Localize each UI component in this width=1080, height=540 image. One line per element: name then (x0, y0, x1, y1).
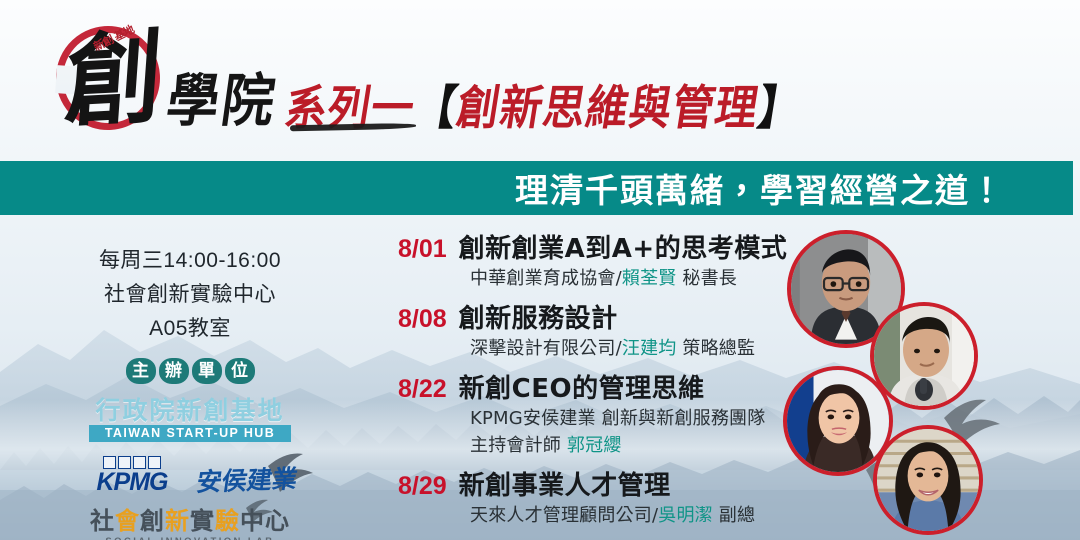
session-heading: 8/01 創新創業A到A+的思考模式 (398, 228, 818, 265)
session-speaker-role: 副總 (713, 505, 755, 526)
session-item: 8/22 新創CEO的管理思維 KPMG安侯建業 創新與新創服務團隊 主持會計師… (398, 368, 818, 459)
headline-banner: 理清千頭萬緒，學習經營之道！ (0, 161, 1073, 215)
organizer-badge: 主 (126, 358, 156, 384)
session-date: 8/29 (398, 472, 447, 501)
event-time: 每周三14:00-16:00 (0, 244, 380, 278)
logo-social-innovation-lab: 社會創新實驗中心 SOCIAL INNOVATION LAB (0, 508, 380, 540)
event-venue: 社會創新實驗中心 (0, 278, 380, 312)
portrait-photo (877, 429, 979, 531)
session-title: 創新創業A到A+的思考模式 (459, 228, 788, 265)
hub-logo-en: TAIWAN START-UP HUB (89, 425, 291, 442)
session-heading: 8/29 新創事業人才管理 (398, 465, 818, 502)
session-speaker-role: 秘書長 (676, 268, 737, 289)
session-speaker-role: 主持會計師 (470, 435, 567, 456)
session-item: 8/08 創新服務設計 深擊設計有限公司/汪建均 策略總監 (398, 298, 818, 362)
kpmg-mark: KPMG (83, 456, 181, 495)
session-title: 創新服務設計 (459, 298, 618, 335)
silab-ch: 實 (190, 506, 215, 535)
silab-ch-hl: 驗 (215, 506, 240, 535)
silab-logo-en: SOCIAL INNOVATION LAB (0, 535, 380, 540)
session-org: 深擊設計有限公司/ (470, 338, 622, 359)
session-item: 8/29 新創事業人才管理 天來人才管理顧問公司/吳明潔 副總 (398, 465, 818, 529)
event-info-column: 每周三14:00-16:00 社會創新實驗中心 A05教室 主 辦 單 位 行政… (0, 244, 380, 540)
session-date: 8/22 (398, 375, 447, 404)
session-speaker-line: 深擊設計有限公司/汪建均 策略總監 (470, 335, 818, 362)
silab-ch: 中心 (240, 506, 290, 535)
session-title: 新創事業人才管理 (459, 465, 671, 502)
session-item: 8/01 創新創業A到A+的思考模式 中華創業育成協會/賴荃賢 秘書長 (398, 228, 818, 292)
session-speaker-name: 賴荃賢 (622, 268, 677, 289)
session-speaker-name: 郭冠纓 (567, 435, 622, 456)
session-org: 中華創業育成協會/ (470, 268, 622, 289)
organizer-badge: 單 (192, 358, 222, 384)
bracket-close: 】 (754, 80, 806, 135)
silab-logo-cn: 社會創新實驗中心 (0, 508, 380, 534)
session-speaker-line: 天來人才管理顧問公司/吳明潔 副總 (470, 502, 818, 529)
session-date: 8/01 (398, 235, 447, 264)
silab-ch: 社 (90, 506, 115, 535)
portrait-photo (787, 370, 889, 472)
event-room: A05教室 (0, 312, 380, 346)
session-speaker-name: 汪建均 (622, 338, 677, 359)
session-org: 天來人才管理顧問公司/ (470, 505, 658, 526)
logo-taiwan-startup-hub: 行政院新創基地 TAIWAN START-UP HUB (89, 398, 291, 442)
session-org-line: KPMG安侯建業 創新與新創服務團隊 (470, 405, 818, 432)
organizer-badge: 位 (225, 358, 255, 384)
kpmg-wordmark: KPMG (83, 470, 181, 495)
session-title: 新創CEO的管理思維 (459, 368, 705, 405)
series-theme: 創新思維與管理 (453, 80, 763, 135)
session-heading: 8/08 創新服務設計 (398, 298, 818, 335)
speaker-portrait (873, 425, 983, 535)
header: 創 新創 基地 學院 系列一【創新思維與管理】 (0, 0, 1080, 152)
portrait-photo (874, 306, 974, 406)
session-speaker-name: 吳明潔 (658, 505, 713, 526)
session-heading: 8/22 新創CEO的管理思維 (398, 368, 818, 405)
session-speaker-role: 策略總監 (676, 338, 755, 359)
sponsor-logos: 行政院新創基地 TAIWAN START-UP HUB KPMG 安侯建業 社會… (0, 398, 380, 540)
organizer-label-badges: 主 辦 單 位 (0, 358, 380, 384)
session-speaker-line: 中華創業育成協會/賴荃賢 秘書長 (470, 265, 818, 292)
logo-kpmg: KPMG 安侯建業 (0, 456, 380, 495)
banner-headline-text: 理清千頭萬緒，學習經營之道！ (515, 164, 1073, 212)
session-speaker-line: 主持會計師 郭冠纓 (470, 432, 818, 459)
hub-logo-cn: 行政院新創基地 (89, 398, 291, 424)
silab-ch: 創 (140, 506, 165, 535)
silab-ch-hl: 會 (115, 506, 140, 535)
logo-academy-text: 學院 (162, 54, 284, 137)
organizer-badge: 辦 (159, 358, 189, 384)
session-list: 8/01 創新創業A到A+的思考模式 中華創業育成協會/賴荃賢 秘書長 8/08… (398, 228, 818, 535)
session-date: 8/08 (398, 305, 447, 334)
kpmg-logo-cn: 安侯建業 (195, 465, 300, 496)
silab-ch-hl: 新 (165, 506, 190, 535)
poster-root: 創 新創 基地 學院 系列一【創新思維與管理】 理清千頭萬緒，學習經營之道！ 每… (0, 0, 1080, 540)
